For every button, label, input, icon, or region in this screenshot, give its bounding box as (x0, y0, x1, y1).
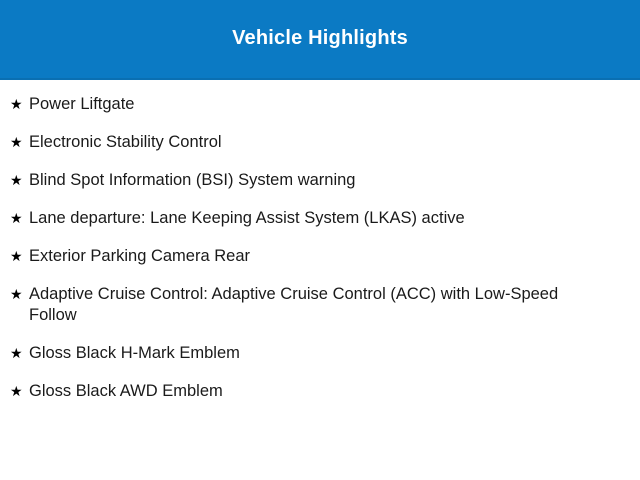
list-item-label: Blind Spot Information (BSI) System warn… (29, 170, 581, 191)
list-item: ★ Exterior Parking Camera Rear (0, 246, 640, 267)
star-icon: ★ (10, 208, 29, 229)
vehicle-highlights-list: ★ Power Liftgate ★ Electronic Stability … (0, 80, 640, 402)
star-icon: ★ (10, 132, 29, 153)
vehicle-highlights-panel: Vehicle Highlights ★ Power Liftgate ★ El… (0, 0, 640, 480)
star-icon: ★ (10, 381, 29, 402)
star-icon: ★ (10, 170, 29, 191)
list-item-label: Exterior Parking Camera Rear (29, 246, 581, 267)
list-item-label: Gloss Black H-Mark Emblem (29, 343, 581, 364)
panel-header: Vehicle Highlights (0, 0, 640, 80)
star-icon: ★ (10, 343, 29, 364)
list-item-label: Power Liftgate (29, 94, 581, 115)
list-item: ★ Adaptive Cruise Control: Adaptive Crui… (0, 284, 640, 326)
list-item: ★ Lane departure: Lane Keeping Assist Sy… (0, 208, 640, 229)
list-item-label: Lane departure: Lane Keeping Assist Syst… (29, 208, 581, 229)
list-item: ★ Power Liftgate (0, 94, 640, 115)
list-item: ★ Gloss Black H-Mark Emblem (0, 343, 640, 364)
list-item-label: Adaptive Cruise Control: Adaptive Cruise… (29, 284, 581, 326)
list-item: ★ Electronic Stability Control (0, 132, 640, 153)
page-title: Vehicle Highlights (232, 28, 408, 50)
list-item-label: Gloss Black AWD Emblem (29, 381, 581, 402)
star-icon: ★ (10, 94, 29, 115)
list-item-label: Electronic Stability Control (29, 132, 581, 153)
star-icon: ★ (10, 246, 29, 267)
star-icon: ★ (10, 284, 29, 305)
list-item: ★ Blind Spot Information (BSI) System wa… (0, 170, 640, 191)
list-item: ★ Gloss Black AWD Emblem (0, 381, 640, 402)
